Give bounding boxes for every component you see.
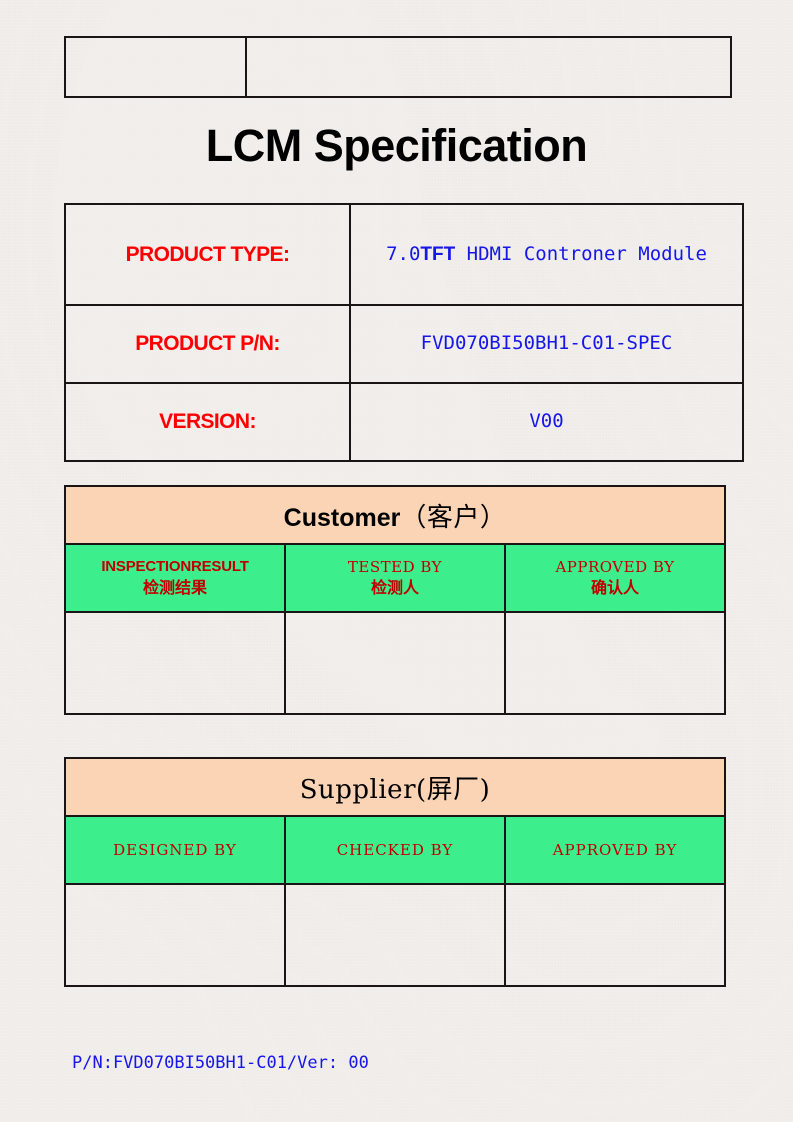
supplier-signature-checked-by[interactable] <box>285 884 505 986</box>
customer-col-head-approved-by: APPROVED BY 确认人 <box>505 544 725 612</box>
supplier-band-title: Supplier(屏厂) <box>65 758 725 816</box>
header-stamp-cell-left[interactable] <box>65 37 246 97</box>
product-info-table: PRODUCT TYPE: 7.0TFT HDMI Controner Modu… <box>64 203 744 462</box>
supplier-signature-designed-by[interactable] <box>65 884 285 986</box>
customer-signature-table: Customer（客户） INSPECTIONRESULT 检测结果 TESTE… <box>64 485 726 715</box>
document-page: LCM Specification PRODUCT TYPE: 7.0TFT H… <box>0 0 793 1122</box>
product-type-value[interactable]: 7.0TFT HDMI Controner Module <box>350 204 743 305</box>
table-row-product-pn: PRODUCT P/N: FVD070BI50BH1-C01-SPEC <box>65 305 743 383</box>
customer-col-head-approved-by-cn: 确认人 <box>506 577 724 599</box>
table-row-customer-band: Customer（客户） <box>65 486 725 544</box>
customer-col-head-inspection-result: INSPECTIONRESULT 检测结果 <box>65 544 285 612</box>
supplier-col-head-designed-by-en: DESIGNED BY <box>66 840 284 860</box>
table-row-supplier-signatures <box>65 884 725 986</box>
customer-band-title: Customer（客户） <box>65 486 725 544</box>
header-stamp-table <box>64 36 732 98</box>
table-row-supplier-band: Supplier(屏厂) <box>65 758 725 816</box>
table-row-customer-signatures <box>65 612 725 714</box>
customer-col-head-tested-by-cn: 检测人 <box>286 577 504 599</box>
customer-col-head-inspection-result-cn: 检测结果 <box>66 577 284 599</box>
customer-col-head-inspection-result-en: INSPECTIONRESULT <box>66 557 284 577</box>
supplier-col-head-checked-by: CHECKED BY <box>285 816 505 884</box>
supplier-band-title-text: Supplier(屏厂) <box>300 775 491 805</box>
supplier-col-head-designed-by: DESIGNED BY <box>65 816 285 884</box>
product-type-label: PRODUCT TYPE: <box>65 204 350 305</box>
table-row-product-type: PRODUCT TYPE: 7.0TFT HDMI Controner Modu… <box>65 204 743 305</box>
customer-signature-inspection-result[interactable] <box>65 612 285 714</box>
customer-col-head-tested-by-en: TESTED BY <box>286 557 504 577</box>
table-row-version: VERSION: V00 <box>65 383 743 461</box>
customer-col-head-approved-by-en: APPROVED BY <box>506 557 724 577</box>
product-pn-value[interactable]: FVD070BI50BH1-C01-SPEC <box>350 305 743 383</box>
customer-signature-tested-by[interactable] <box>285 612 505 714</box>
supplier-col-head-approved-by-en: APPROVED BY <box>506 840 724 860</box>
page-title: LCM Specification <box>0 120 793 172</box>
product-type-desc: HDMI Controner Module <box>455 243 707 265</box>
version-value[interactable]: V00 <box>350 383 743 461</box>
customer-band-title-en: Customer <box>284 504 401 532</box>
table-row-customer-heads: INSPECTIONRESULT 检测结果 TESTED BY 检测人 APPR… <box>65 544 725 612</box>
footer-part-number: P/N:FVD070BI50BH1-C01/Ver: 00 <box>72 1053 369 1073</box>
product-type-tft: TFT <box>420 244 455 265</box>
supplier-signature-approved-by[interactable] <box>505 884 725 986</box>
customer-band-title-cn: （客户） <box>400 503 506 533</box>
table-row-supplier-heads: DESIGNED BY CHECKED BY APPROVED BY <box>65 816 725 884</box>
header-stamp-cell-right[interactable] <box>246 37 731 97</box>
supplier-signature-table: Supplier(屏厂) DESIGNED BY CHECKED BY APPR… <box>64 757 726 987</box>
product-type-size: 7.0 <box>386 243 420 265</box>
customer-signature-approved-by[interactable] <box>505 612 725 714</box>
version-label: VERSION: <box>65 383 350 461</box>
supplier-col-head-checked-by-en: CHECKED BY <box>286 840 504 860</box>
customer-col-head-tested-by: TESTED BY 检测人 <box>285 544 505 612</box>
product-pn-label: PRODUCT P/N: <box>65 305 350 383</box>
table-row <box>65 37 731 97</box>
supplier-col-head-approved-by: APPROVED BY <box>505 816 725 884</box>
